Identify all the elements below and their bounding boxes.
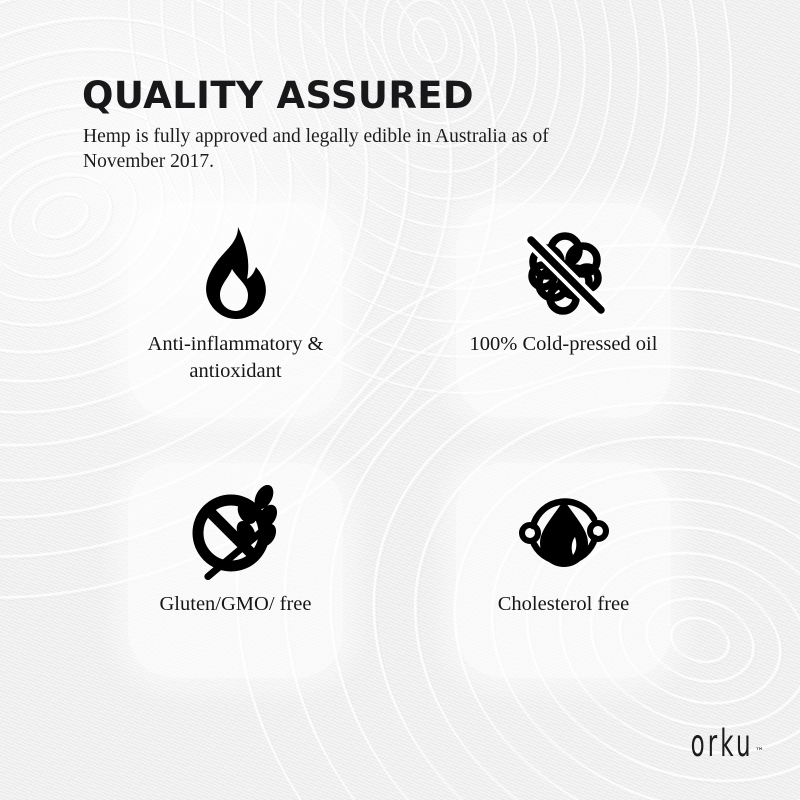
brand-logo: orku ™ (652, 725, 764, 762)
feature-card-caption: Gluten/GMO/ free (138, 591, 333, 618)
feature-card-caption: Cholesterol free (466, 591, 661, 618)
feature-card-caption: Anti-inflammatory & antioxidant (138, 331, 333, 385)
trademark-symbol: ™ (755, 747, 764, 757)
feature-card-gluten-gmo-free: Gluten/GMO/ free (128, 463, 343, 678)
brand-name: orku (691, 725, 754, 762)
feature-card-anti-inflammatory: Anti-inflammatory & antioxidant (128, 203, 343, 418)
feature-card-cold-pressed: 100% Cold-pressed oil (456, 203, 671, 418)
no-heat-cluster-icon (517, 225, 611, 321)
feature-card-caption: 100% Cold-pressed oil (466, 331, 661, 358)
promo-infographic: QUALITY ASSURED Hemp is fully approved a… (0, 0, 800, 800)
flame-icon (198, 225, 274, 321)
no-gluten-wheat-icon (184, 485, 288, 581)
paper-grain (0, 0, 800, 800)
feature-card-cholesterol-free: Cholesterol free (456, 463, 671, 678)
page-subtitle: Hemp is fully approved and legally edibl… (83, 124, 613, 174)
background-texture (0, 0, 800, 800)
page-title: QUALITY ASSURED (82, 74, 474, 117)
cholesterol-droplet-icon (516, 485, 612, 581)
topographic-lines (0, 0, 800, 800)
